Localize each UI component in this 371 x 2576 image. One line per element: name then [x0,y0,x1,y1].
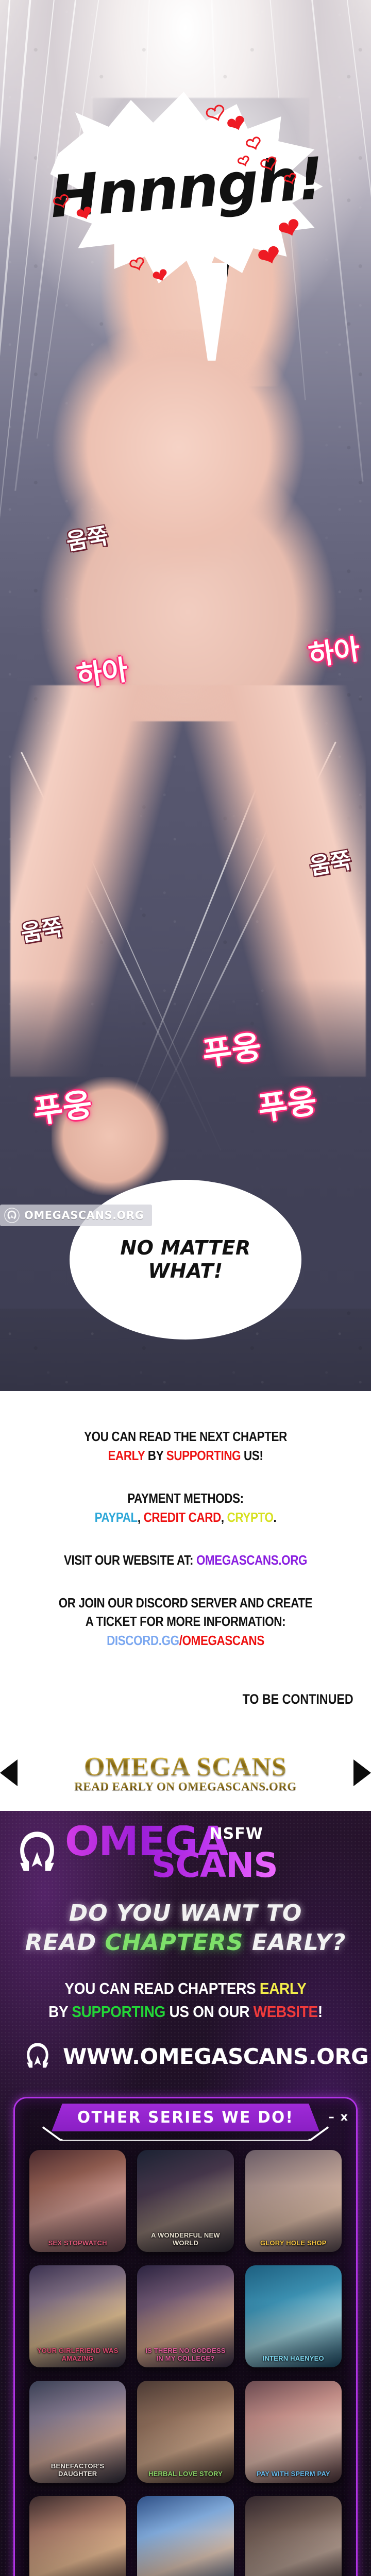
by-word: BY [145,1448,166,1463]
series-title-label: YOUR GIRLFRIEND WAS AMAZING [29,2347,126,2362]
promo-line: OR JOIN OUR DISCORD SERVER AND CREATE [26,1594,345,1613]
support-by: BY [48,2003,72,2021]
support-mid: US ON OUR [165,2003,254,2021]
promo-line: VISIT OUR WEBSITE AT: OMEGASCANS.ORG [26,1551,345,1570]
series-card[interactable]: BENEFACTOR'S DAUGHTER [29,2381,126,2483]
series-title-label: INTERN HAENYEO [245,2355,342,2363]
series-card[interactable]: GLORY HOLE SHOP [245,2150,342,2252]
heart-icon: ❤ [54,193,54,193]
hero-question: DO YOU WANT TO READ CHAPTERS EARLY? [0,1883,371,1964]
heart-icon: ❤ [246,135,247,135]
promo-block-early: YOU CAN READ THE NEXT CHAPTER EARLY BY S… [0,1427,371,1465]
minimize-icon[interactable]: – [329,2111,334,2124]
watermark-badge: OMEGASCANS.ORG [0,1205,152,1226]
sep: , [221,1510,227,1525]
crypto-label: CRYPTO [227,1510,274,1525]
triangle-left-icon [0,1759,18,1786]
period: . [274,1510,277,1525]
thought-line-1: NO MATTER [120,1236,250,1260]
website-url-row[interactable]: WWW.OMEGASCANS.ORG [0,2029,371,2089]
heart-icon: ❤ [76,204,77,205]
other-series-header: OTHER SERIES WE DO! – x [15,2098,356,2148]
series-cover-shade [29,2496,126,2576]
series-card[interactable]: MOBY DICK [245,2496,342,2576]
brand-scans-text: SCANS [151,1851,278,1879]
heart-icon: ❤ [238,155,239,155]
series-card[interactable]: PAY WITH SPERM PAY [245,2381,342,2483]
brand-header: OMEGA SCANS NSFW [0,1811,371,1883]
other-series-title: OTHER SERIES WE DO! [77,2108,294,2127]
hero-line-1: DO YOU WANT TO [10,1900,361,1926]
series-cover-shade [137,2496,233,2576]
comic-art-section: Hnnngh! ❤ ❤ ❤ ❤ ❤ ❤ ❤ ❤ ❤ ❤ ❤ ❤ 움쭉 움쭉 움쭉… [0,0,371,1391]
window-controls[interactable]: – x [329,2111,348,2124]
other-series-title-bar: OTHER SERIES WE DO! [52,2104,319,2131]
gold-brand-banner: OMEGA SCANS READ EARLY ON OMEGASCANS.ORG [0,1738,371,1811]
series-title-label: PAY WITH SPERM PAY [245,2470,342,2478]
thought-line-2: WHAT! [148,1260,223,1283]
promo-line: DISCORD.GG/OMEGASCANS [26,1631,345,1650]
promo-line: PAYMENT METHODS: [26,1489,345,1508]
support-prefix: YOU CAN READ CHAPTERS [64,1979,259,1997]
gold-banner-subtitle: READ EARLY ON OMEGASCANS.ORG [74,1780,296,1793]
series-cover-shade [245,2150,342,2252]
series-card[interactable]: A WONDERFUL NEW WORLD [137,2150,233,2252]
sep: , [138,1510,144,1525]
series-card[interactable]: INTERN HAENYEO [245,2265,342,2367]
promo-text-section: YOU CAN READ THE NEXT CHAPTER EARLY BY S… [0,1391,371,1738]
support-line-2: BY SUPPORTING US ON OUR WEBSITE! [27,2001,344,2024]
promo-line: PAYPAL, CREDIT CARD, CRYPTO. [26,1508,345,1527]
gold-banner-title: OMEGA SCANS [84,1752,287,1782]
support-website: WEBSITE [254,2003,318,2021]
character-body-art [31,330,345,721]
series-card[interactable]: HERBAL LOVE STORY [137,2381,233,2483]
hero-early: EARLY? [244,1929,346,1956]
heart-icon: ❤ [278,215,279,216]
heart-icon: ❤ [261,155,261,155]
promo-block-payment: PAYMENT METHODS: PAYPAL, CREDIT CARD, CR… [0,1489,371,1527]
support-bang: ! [318,2003,323,2021]
website-url-text[interactable]: WWW.OMEGASCANS.ORG [63,2044,368,2069]
discord-domain[interactable]: DISCORD.GG [107,1633,179,1648]
other-series-panel: OTHER SERIES WE DO! – x SEX STOPWATCHA W… [13,2097,358,2576]
series-card[interactable]: MILF HUNTING IN ANOTHER WORLD [29,2496,126,2576]
series-card[interactable]: SEX STOPWATCH [29,2150,126,2252]
visit-prefix: VISIT OUR WEBSITE AT: [64,1552,196,1568]
omega-logo-icon [14,1829,60,1876]
promo-block-discord: OR JOIN OUR DISCORD SERVER AND CREATE A … [0,1594,371,1651]
series-cover-shade [29,2150,126,2252]
brand-nsfw-badge: NSFW [210,1827,263,1840]
series-card[interactable]: TRAPPED IN THE ACADEMY'S EROGE [137,2496,233,2576]
hero-line-2: READ CHAPTERS EARLY? [10,1929,361,1956]
hero-chapters: CHAPTERS [105,1929,243,1956]
hand-art [52,1077,180,1195]
paypal-label: PAYPAL [95,1510,138,1525]
support-line-1: YOU CAN READ CHAPTERS EARLY [27,1977,344,2001]
us-word: US! [241,1448,263,1463]
series-title-label: IS THERE NO GODDESS IN MY COLLEGE? [137,2347,233,2362]
series-title-label: SEX STOPWATCH [29,2240,126,2247]
series-title-label: BENEFACTOR'S DAUGHTER [29,2463,126,2478]
supporting-word: SUPPORTING [166,1448,241,1463]
heart-icon: ❤ [258,242,258,243]
promo-line: YOU CAN READ THE NEXT CHAPTER [26,1427,345,1446]
series-title-label: GLORY HOLE SHOP [245,2240,342,2247]
support-message: YOU CAN READ CHAPTERS EARLY BY SUPPORTIN… [0,1964,371,2029]
to-be-continued-label: TO BE CONTINUED [52,1691,371,1707]
webtoon-page: Hnnngh! ❤ ❤ ❤ ❤ ❤ ❤ ❤ ❤ ❤ ❤ ❤ ❤ 움쭉 움쭉 움쭉… [0,0,371,2576]
close-x-icon[interactable]: x [341,2111,348,2124]
series-cover-shade [245,2496,342,2576]
discord-path[interactable]: /OMEGASCANS [179,1633,264,1648]
dark-promo-section: OMEGA SCANS NSFW DO YOU WANT TO READ CHA… [0,1811,371,2576]
watermark-text: OMEGASCANS.ORG [24,1209,144,1222]
hero-read: READ [25,1929,105,1956]
support-supporting: SUPPORTING [72,2003,165,2021]
omega-logo-icon [4,1208,20,1223]
promo-block-website: VISIT OUR WEBSITE AT: OMEGASCANS.ORG [0,1551,371,1570]
series-title-label: HERBAL LOVE STORY [137,2470,233,2478]
credit-card-label: CREDIT CARD [144,1510,221,1525]
promo-line: A TICKET FOR MORE INFORMATION: [26,1612,345,1631]
heart-icon: ❤ [130,256,130,256]
series-title-label: A WONDERFUL NEW WORLD [137,2232,233,2247]
early-word: EARLY [108,1448,145,1463]
omega-logo-icon [24,2041,52,2071]
heart-icon: ❤ [284,172,285,173]
series-card[interactable]: YOUR GIRLFRIEND WAS AMAZING [29,2265,126,2367]
series-card[interactable]: IS THERE NO GODDESS IN MY COLLEGE? [137,2265,233,2367]
series-cover-shade [137,2381,233,2483]
series-cover-shade [245,2265,342,2367]
website-url[interactable]: OMEGASCANS.ORG [196,1552,307,1568]
triangle-right-icon [353,1759,371,1786]
promo-line: EARLY BY SUPPORTING US! [26,1446,345,1465]
series-cover-shade [245,2381,342,2483]
support-early: EARLY [260,1979,307,1997]
heart-icon: ❤ [227,112,227,113]
series-grid: SEX STOPWATCHA WONDERFUL NEW WORLDGLORY … [15,2148,356,2576]
other-series-wrapper: OTHER SERIES WE DO! – x SEX STOPWATCHA W… [0,2089,371,2576]
heart-icon: ❤ [206,102,207,103]
heart-icon: ❤ [153,267,153,267]
